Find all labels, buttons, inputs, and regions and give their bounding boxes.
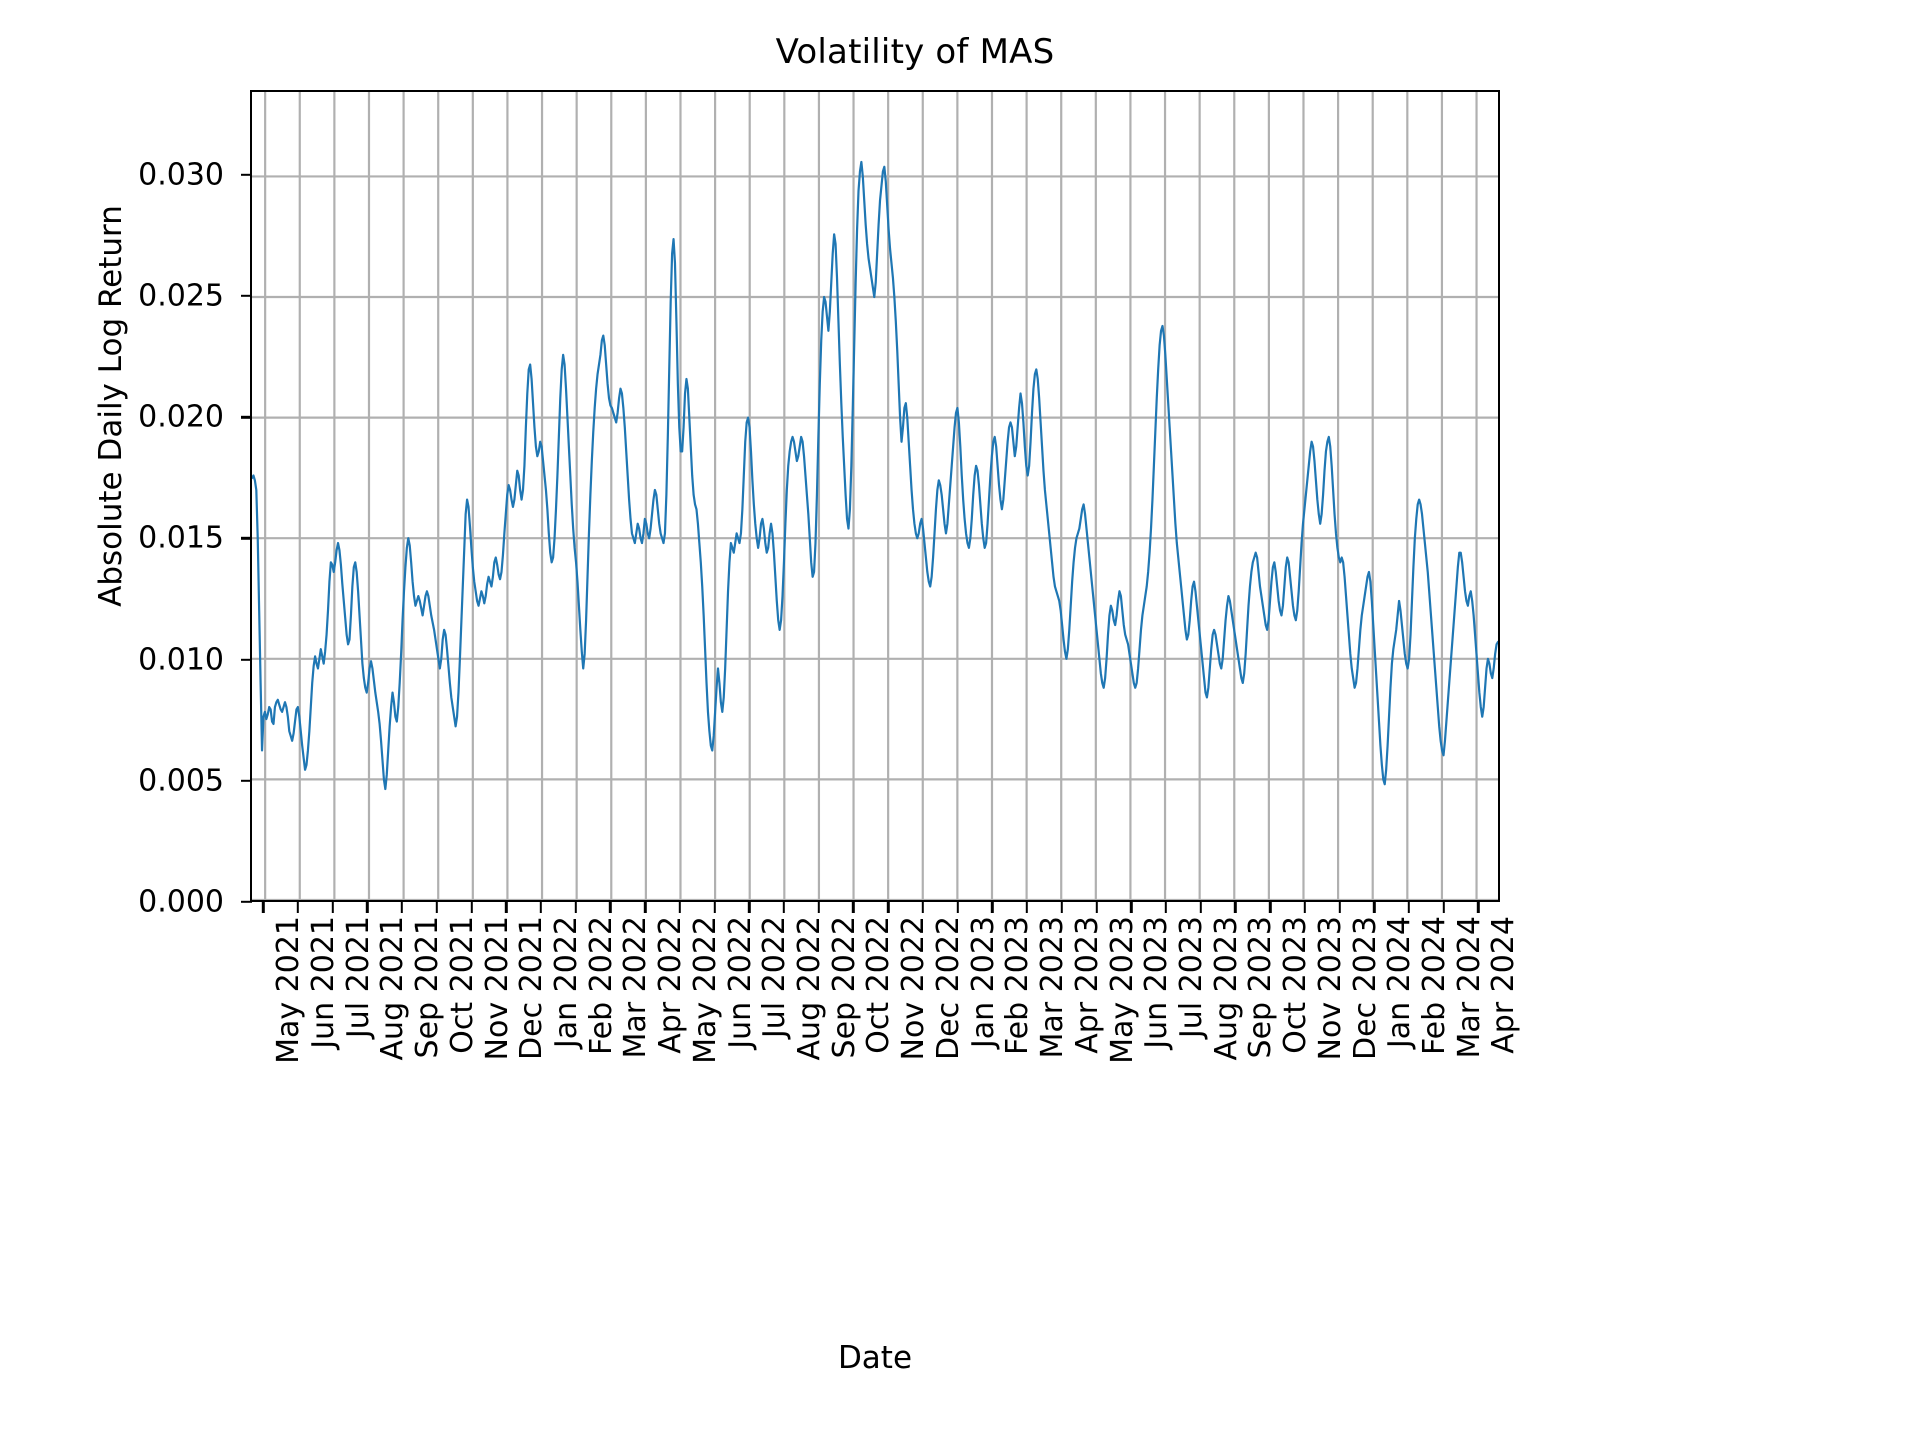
x-tick-mark (713, 902, 715, 913)
x-tick-label: Jun 2023 (1142, 916, 1172, 1049)
x-tick-label: Mar 2024 (1455, 916, 1485, 1059)
x-tick-mark (540, 902, 542, 913)
x-tick-label: May 2023 (1108, 916, 1138, 1064)
x-tick-mark (470, 902, 472, 913)
x-tick-mark (609, 902, 611, 913)
x-tick-mark (1269, 902, 1271, 913)
x-tick-mark (297, 902, 299, 913)
matplotlib-figure: Volatility of MAS 0.0000.0050.0100.0150.… (0, 0, 1920, 1440)
x-tick-mark (401, 902, 403, 913)
x-tick-label: Apr 2023 (1073, 916, 1103, 1054)
x-tick-label: Dec 2022 (934, 916, 964, 1060)
x-tick-label: Nov 2021 (483, 916, 513, 1060)
x-tick-label: Nov 2023 (1316, 916, 1346, 1060)
x-tick-label: Feb 2024 (1420, 916, 1450, 1055)
x-axis-label: Date (250, 1340, 1500, 1376)
x-tick-label: Sep 2021 (413, 916, 443, 1058)
series-volatility-line (252, 92, 1498, 900)
x-tick-label: Aug 2021 (378, 916, 408, 1060)
y-tick-label: 0.015 (138, 521, 224, 556)
x-tick-mark (1234, 902, 1236, 913)
x-tick-label: Apr 2024 (1489, 916, 1519, 1054)
y-tick-label: 0.010 (138, 642, 224, 677)
x-tick-mark (1408, 902, 1410, 913)
x-tick-mark (1165, 902, 1167, 913)
x-tick-mark (1199, 902, 1201, 913)
x-tick-mark (887, 902, 889, 913)
x-tick-label: Jul 2022 (760, 916, 790, 1038)
x-tick-label: Mar 2023 (1038, 916, 1068, 1059)
x-tick-mark (1026, 902, 1028, 913)
x-tick-label: Apr 2022 (656, 916, 686, 1054)
x-tick-mark (922, 902, 924, 913)
x-tick-mark (331, 902, 333, 913)
x-tick-mark (1095, 902, 1097, 913)
x-tick-label: Oct 2021 (448, 916, 478, 1054)
x-tick-mark (262, 902, 264, 913)
x-tick-mark (1373, 902, 1375, 913)
x-tick-mark (852, 902, 854, 913)
x-tick-label: Oct 2022 (864, 916, 894, 1054)
x-tick-mark (818, 902, 820, 913)
x-tick-label: Jul 2021 (344, 916, 374, 1038)
x-tick-label: Jan 2022 (552, 916, 582, 1048)
x-tick-mark (436, 902, 438, 913)
x-tick-label: May 2021 (274, 916, 304, 1064)
x-tick-mark (1443, 902, 1445, 913)
x-tick-mark (644, 902, 646, 913)
x-tick-label: Jul 2023 (1177, 916, 1207, 1038)
x-tick-label: Aug 2022 (795, 916, 825, 1060)
x-axis-tick-labels: May 2021Jun 2021Jul 2021Aug 2021Sep 2021… (250, 916, 1500, 1146)
x-tick-label: Feb 2023 (1003, 916, 1033, 1055)
x-tick-mark (748, 902, 750, 913)
plot-area (250, 90, 1500, 902)
x-tick-mark (956, 902, 958, 913)
x-tick-label: Sep 2023 (1246, 916, 1276, 1058)
x-tick-mark (1477, 902, 1479, 913)
y-tick-label: 0.000 (138, 885, 224, 920)
x-tick-label: Oct 2023 (1281, 916, 1311, 1054)
x-tick-mark (679, 902, 681, 913)
x-tick-mark (1061, 902, 1063, 913)
y-tick-label: 0.020 (138, 400, 224, 435)
x-tick-mark (991, 902, 993, 913)
y-tick-label: 0.005 (138, 763, 224, 798)
x-tick-label: Aug 2023 (1212, 916, 1242, 1060)
x-tick-mark (1304, 902, 1306, 913)
x-tick-mark (783, 902, 785, 913)
y-tick-label: 0.025 (138, 279, 224, 314)
y-axis-label: Absolute Daily Log Return (93, 0, 129, 812)
x-tick-mark (1130, 902, 1132, 913)
x-tick-label: Jan 2023 (969, 916, 999, 1048)
x-tick-mark (505, 902, 507, 913)
chart-title: Volatility of MAS (0, 32, 1875, 72)
x-tick-label: Mar 2022 (621, 916, 651, 1059)
x-tick-label: Nov 2022 (899, 916, 929, 1060)
x-tick-label: Jan 2024 (1385, 916, 1415, 1048)
x-tick-label: Jun 2022 (726, 916, 756, 1049)
x-tick-mark (574, 902, 576, 913)
x-tick-label: Dec 2023 (1351, 916, 1381, 1060)
y-axis-tick-marks (232, 90, 252, 902)
x-axis-tick-marks (250, 902, 1500, 916)
y-tick-label: 0.030 (138, 157, 224, 192)
x-tick-label: Sep 2022 (830, 916, 860, 1058)
x-tick-mark (366, 902, 368, 913)
x-tick-label: Dec 2021 (517, 916, 547, 1060)
x-tick-label: Feb 2022 (587, 916, 617, 1055)
x-tick-mark (1338, 902, 1340, 913)
x-tick-label: Jun 2021 (309, 916, 339, 1049)
x-tick-label: May 2022 (691, 916, 721, 1064)
